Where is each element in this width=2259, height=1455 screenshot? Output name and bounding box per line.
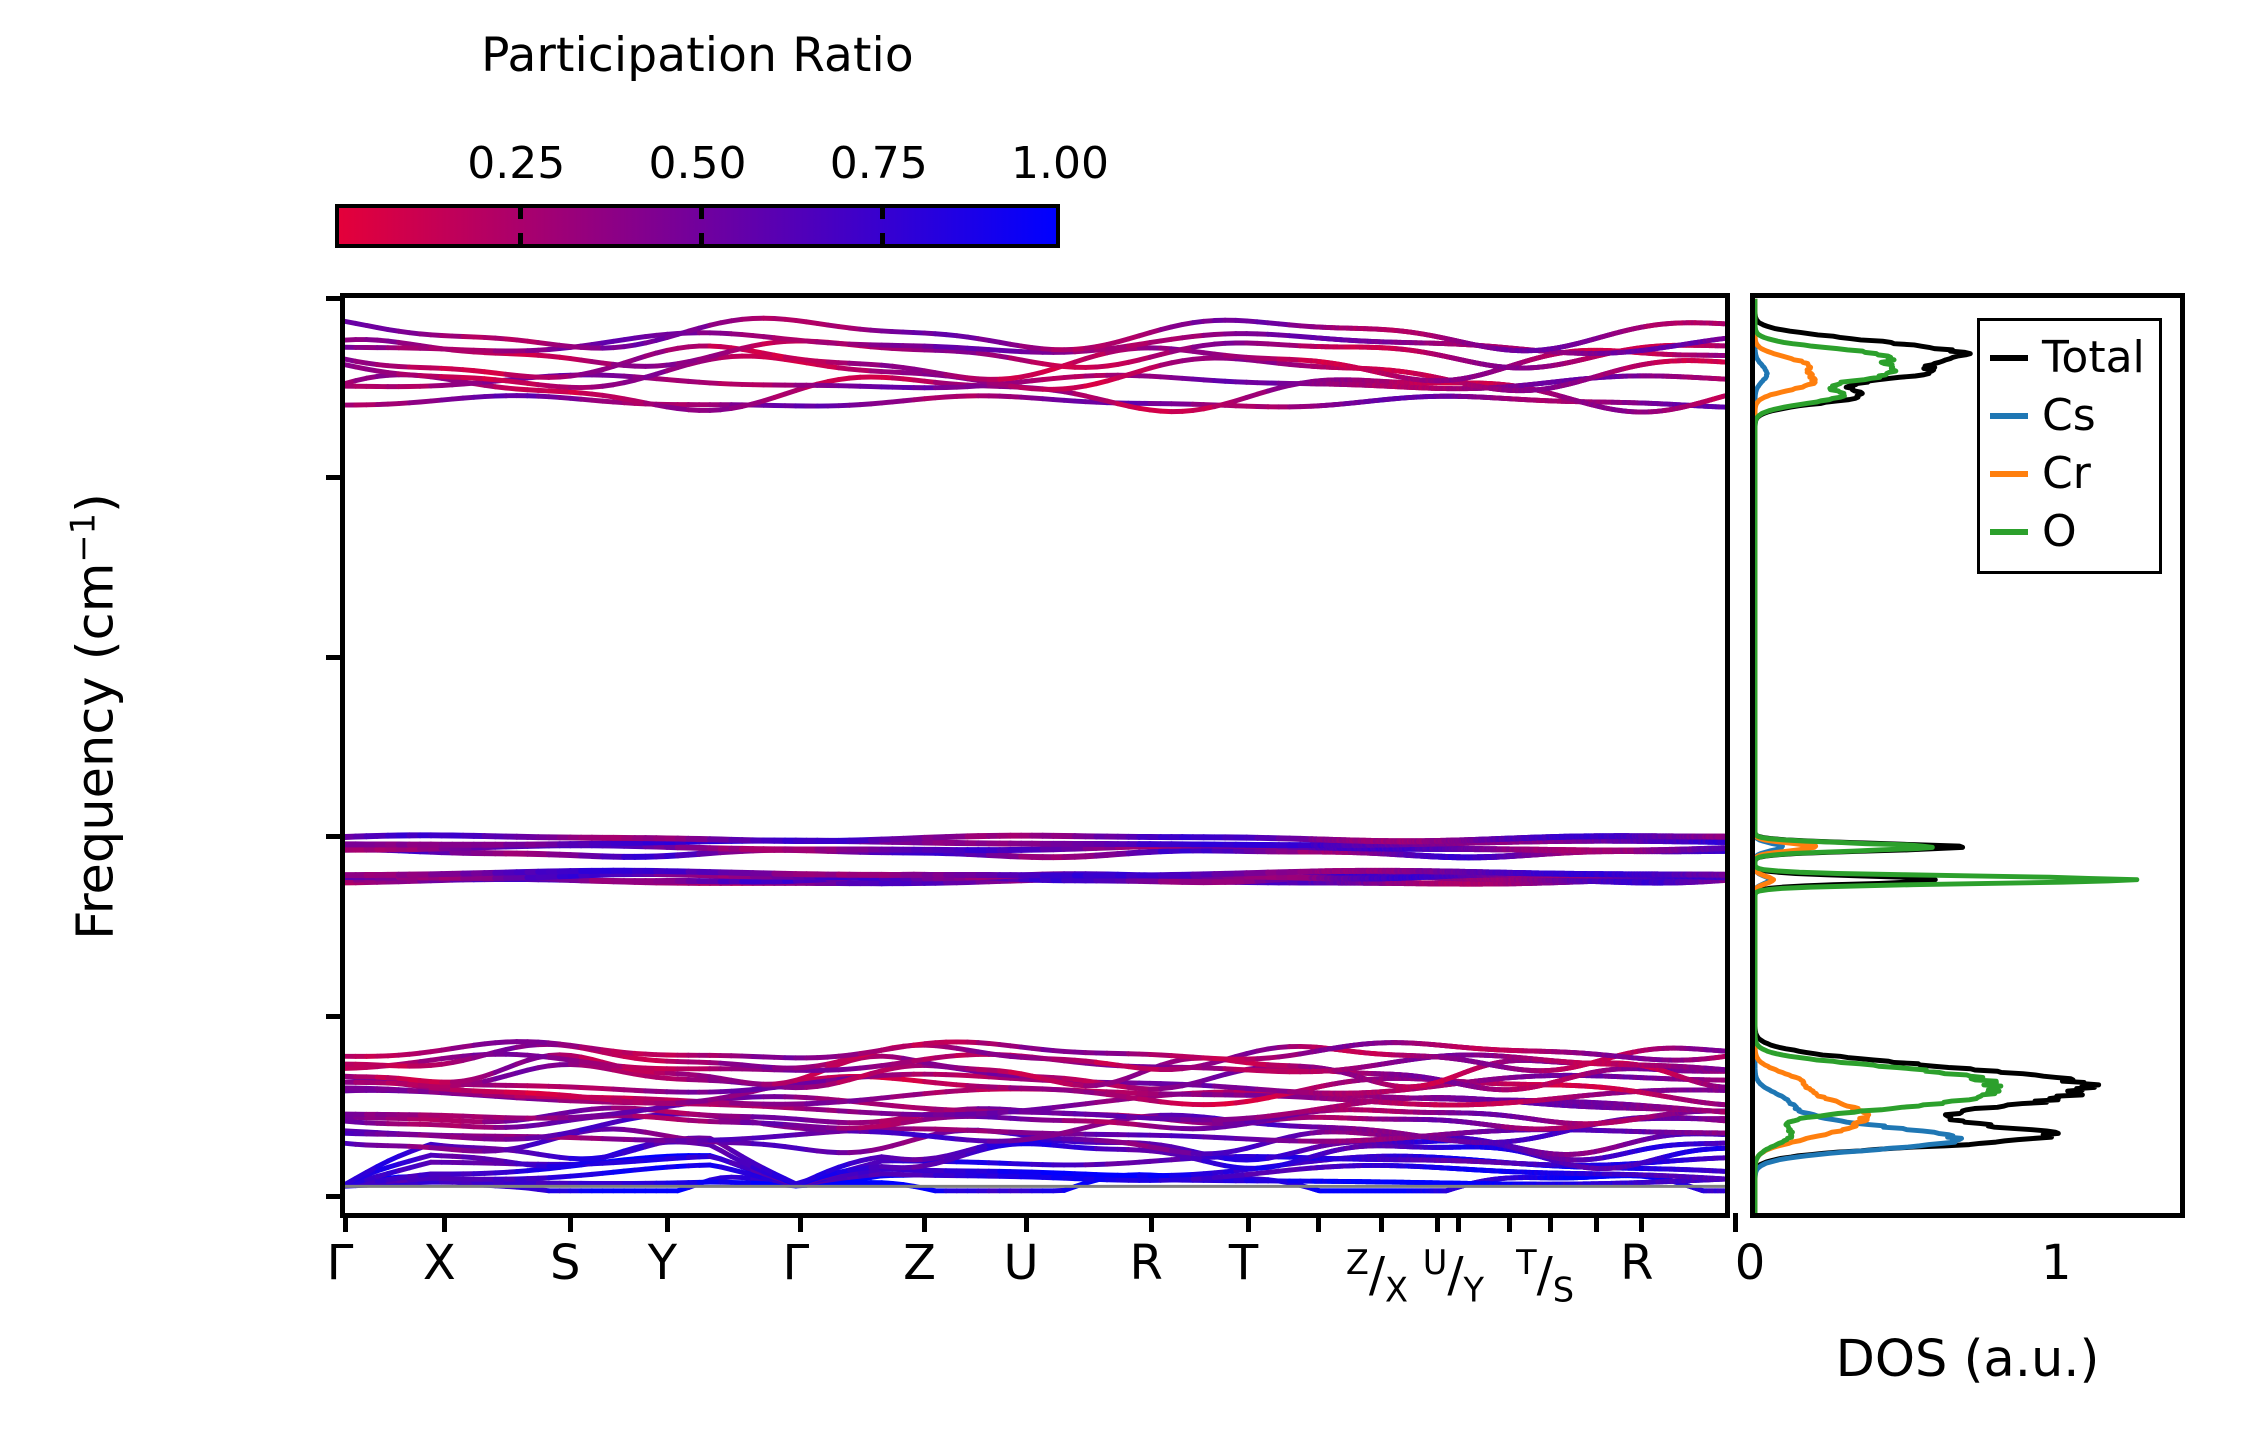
colorbar-ticklabels: 0.250.500.751.00	[335, 138, 1060, 190]
colorbar-tick-mark	[518, 208, 523, 219]
colorbar-tick-mark	[880, 208, 885, 219]
phonon-figure: Participation Ratio 0.250.500.751.00 Fre…	[0, 0, 2259, 1455]
colorbar-bar	[335, 204, 1060, 248]
colorbar-title: Participation Ratio	[335, 28, 1060, 84]
colorbar-tick-mark	[699, 208, 704, 219]
band-y-axis-label-exponent: −1	[64, 513, 103, 563]
colorbar-tick-mark	[699, 233, 704, 244]
band-y-axis-label: Frequency (cm−1)	[54, 367, 127, 1067]
colorbar-tick-label: 0.50	[649, 138, 747, 190]
band-structure-panel	[340, 293, 1730, 1218]
colorbar-tick-label: 1.00	[1011, 138, 1109, 190]
colorbar-gradient	[339, 208, 1056, 244]
colorbar-tick-label: 0.75	[830, 138, 928, 190]
colorbar-tick-mark	[880, 233, 885, 244]
colorbar-tick-label: 0.25	[467, 138, 565, 190]
band-y-axis-label-text: Frequency (cm	[67, 563, 126, 940]
band-structure-plot	[345, 298, 1725, 1213]
band-y-axis-label-suffix: )	[67, 493, 126, 513]
colorbar: Participation Ratio 0.250.500.751.00	[335, 28, 1060, 253]
colorbar-tick-mark	[518, 233, 523, 244]
